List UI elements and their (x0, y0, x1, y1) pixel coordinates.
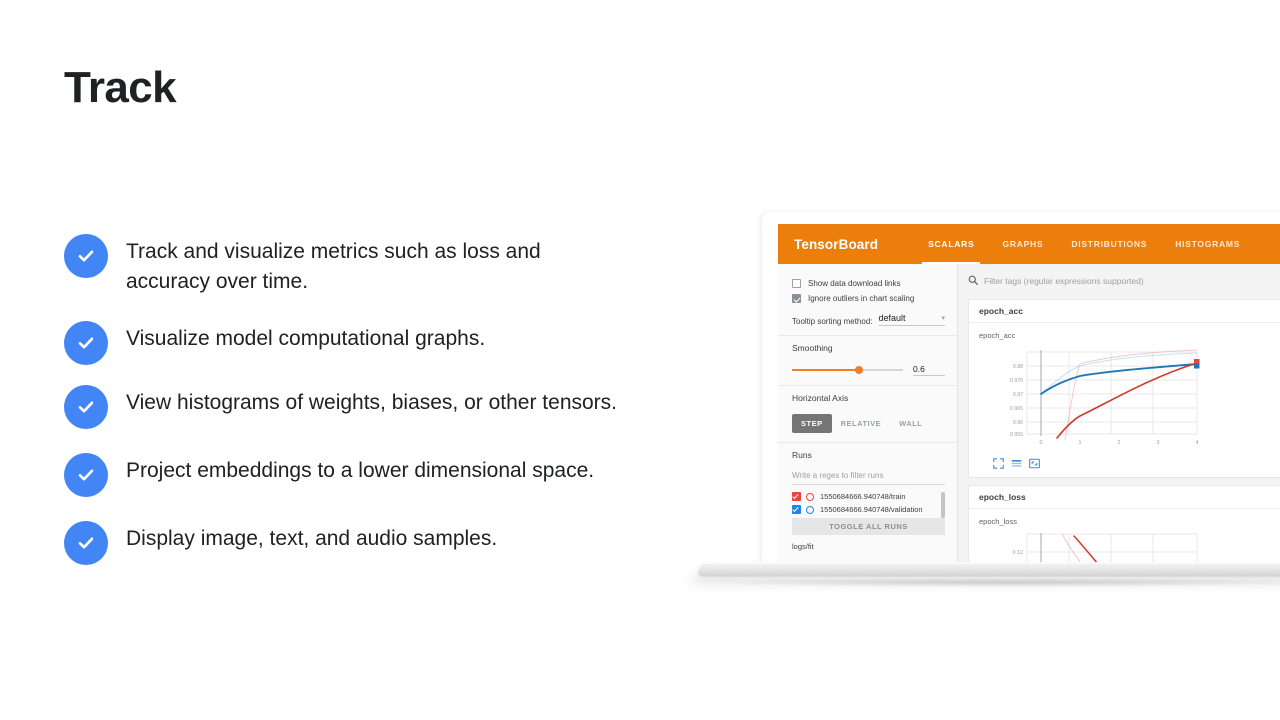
data-table-icon[interactable] (1011, 456, 1022, 467)
runs-section: Runs Write a regex to filter runs 155068… (778, 443, 957, 560)
chart-epoch-acc[interactable]: 0.98 0.975 0.97 0.965 0.96 0.955 0 (979, 344, 1269, 449)
list-item: Display image, text, and audio samples. (64, 519, 664, 565)
list-item: Visualize model computational graphs. (64, 319, 664, 365)
tensorboard-logo: TensorBoard (794, 237, 878, 252)
card-epoch-loss: epoch_loss epoch_loss (968, 485, 1280, 564)
check-circle-icon (64, 385, 108, 429)
card-group-title-epoch-acc[interactable]: epoch_acc (969, 300, 1280, 323)
list-item-label: Visualize model computational graphs. (126, 319, 485, 354)
list-item-label: Display image, text, and audio samples. (126, 519, 497, 554)
show-download-links-label: Show data download links (808, 279, 901, 288)
svg-text:0.97: 0.97 (1013, 392, 1023, 398)
run-checkbox-validation[interactable] (792, 505, 801, 514)
svg-text:1: 1 (1079, 440, 1082, 446)
tab-distributions[interactable]: DISTRIBUTIONS (1057, 224, 1161, 264)
tab-histograms[interactable]: HISTOGRAMS (1161, 224, 1254, 264)
page-title: Track (64, 63, 176, 114)
tab-scalars[interactable]: SCALARS (914, 224, 988, 264)
axis-button-relative[interactable]: RELATIVE (832, 414, 891, 433)
check-circle-icon (64, 453, 108, 497)
fit-domain-icon[interactable] (1029, 456, 1040, 467)
run-name-train: 1550684666.940748/train (820, 492, 906, 501)
tab-graphs[interactable]: GRAPHS (988, 224, 1057, 264)
card-epoch-acc: epoch_acc epoch_acc (968, 299, 1280, 478)
svg-text:2: 2 (1118, 440, 1121, 446)
horizontal-axis-section: Horizontal Axis STEP RELATIVE WALL (778, 386, 957, 443)
list-item: Track and visualize metrics such as loss… (64, 232, 664, 297)
card-body-epoch-loss: epoch_loss (969, 509, 1280, 564)
smoothing-value[interactable]: 0.6 (913, 364, 945, 376)
smoothing-slider-row: 0.6 (792, 364, 945, 376)
logdir-label: logs/fit (792, 542, 945, 551)
smoothing-section: Smoothing 0.6 (778, 336, 957, 386)
laptop-shadow (710, 578, 1280, 587)
check-circle-icon (64, 321, 108, 365)
list-item-label: View histograms of weights, biases, or o… (126, 383, 617, 418)
svg-text:4: 4 (1196, 440, 1199, 446)
laptop-base (695, 564, 1280, 577)
ignore-outliers-row[interactable]: Ignore outliers in chart scaling (792, 294, 945, 303)
chart-epoch-loss[interactable]: 0.12 (979, 530, 1269, 564)
feature-bullet-list: Track and visualize metrics such as loss… (64, 232, 664, 583)
svg-text:0.96: 0.96 (1013, 420, 1023, 426)
svg-text:0.975: 0.975 (1010, 378, 1023, 384)
show-download-links-checkbox[interactable] (792, 279, 801, 288)
list-item: View histograms of weights, biases, or o… (64, 383, 664, 429)
check-circle-icon (64, 234, 108, 278)
tensorboard-main: Filter tags (regular expressions support… (958, 264, 1280, 564)
ignore-outliers-label: Ignore outliers in chart scaling (808, 294, 914, 303)
horizontal-axis-buttons: STEP RELATIVE WALL (792, 414, 945, 433)
svg-text:0.955: 0.955 (1010, 432, 1023, 438)
tensorboard-body: Show data download links Ignore outliers… (778, 264, 1280, 564)
chart-title-epoch-loss: epoch_loss (979, 517, 1280, 526)
list-item: Project embeddings to a lower dimensiona… (64, 451, 664, 497)
chart-controls-epoch-acc (979, 454, 1280, 473)
runs-list: 1550684666.940748/train 1550684666.94074… (792, 492, 945, 514)
search-icon (968, 272, 978, 290)
run-item-validation[interactable]: 1550684666.940748/validation (792, 505, 938, 514)
smoothing-label: Smoothing (792, 343, 945, 353)
runs-scrollbar[interactable] (941, 492, 945, 518)
fullscreen-icon[interactable] (993, 456, 1004, 467)
smoothing-slider-fill (792, 369, 859, 371)
tensorboard-header: TensorBoard SCALARS GRAPHS DISTRIBUTIONS… (778, 224, 1280, 264)
horizontal-axis-label: Horizontal Axis (792, 393, 945, 403)
tooltip-sort-select[interactable]: default ▾ (879, 313, 946, 326)
run-color-dot-validation (806, 506, 814, 514)
run-item-train[interactable]: 1550684666.940748/train (792, 492, 938, 501)
runs-label: Runs (792, 450, 945, 460)
axis-button-wall[interactable]: WALL (890, 414, 931, 433)
run-color-dot-train (806, 493, 814, 501)
toggle-all-runs-button[interactable]: TOGGLE ALL RUNS (792, 518, 945, 535)
tensorboard-app: TensorBoard SCALARS GRAPHS DISTRIBUTIONS… (778, 224, 1280, 564)
svg-text:0.965: 0.965 (1010, 406, 1023, 412)
chevron-down-icon: ▾ (941, 314, 945, 322)
tooltip-sort-value: default (879, 313, 906, 323)
tag-filter-row[interactable]: Filter tags (regular expressions support… (968, 272, 1280, 290)
card-group-title-epoch-loss[interactable]: epoch_loss (969, 486, 1280, 509)
tooltip-sort-label: Tooltip sorting method: (792, 317, 873, 326)
laptop-mockup: TensorBoard SCALARS GRAPHS DISTRIBUTIONS… (700, 212, 1280, 602)
tooltip-sort-row: Tooltip sorting method: default ▾ (792, 313, 945, 326)
svg-text:3: 3 (1157, 440, 1160, 446)
tensorboard-sidebar: Show data download links Ignore outliers… (778, 264, 958, 564)
chart-title-epoch-acc: epoch_acc (979, 331, 1280, 340)
list-item-label: Project embeddings to a lower dimensiona… (126, 451, 594, 486)
ignore-outliers-checkbox[interactable] (792, 294, 801, 303)
display-options-section: Show data download links Ignore outliers… (778, 272, 957, 336)
tag-filter-input[interactable]: Filter tags (regular expressions support… (984, 276, 1144, 286)
laptop-screen: TensorBoard SCALARS GRAPHS DISTRIBUTIONS… (762, 212, 1280, 564)
show-download-links-row[interactable]: Show data download links (792, 279, 945, 288)
svg-text:0.12: 0.12 (1013, 550, 1024, 556)
run-checkbox-train[interactable] (792, 492, 801, 501)
check-circle-icon (64, 521, 108, 565)
run-name-validation: 1550684666.940748/validation (820, 505, 923, 514)
tensorboard-tabs: SCALARS GRAPHS DISTRIBUTIONS HISTOGRAMS (914, 224, 1254, 264)
list-item-label: Track and visualize metrics such as loss… (126, 232, 626, 297)
runs-filter-input[interactable]: Write a regex to filter runs (792, 471, 945, 485)
smoothing-slider-knob[interactable] (855, 366, 863, 374)
smoothing-slider[interactable] (792, 369, 903, 371)
svg-text:0: 0 (1040, 440, 1043, 446)
card-body-epoch-acc: epoch_acc (969, 323, 1280, 477)
svg-text:0.98: 0.98 (1013, 364, 1023, 370)
axis-button-step[interactable]: STEP (792, 414, 832, 433)
